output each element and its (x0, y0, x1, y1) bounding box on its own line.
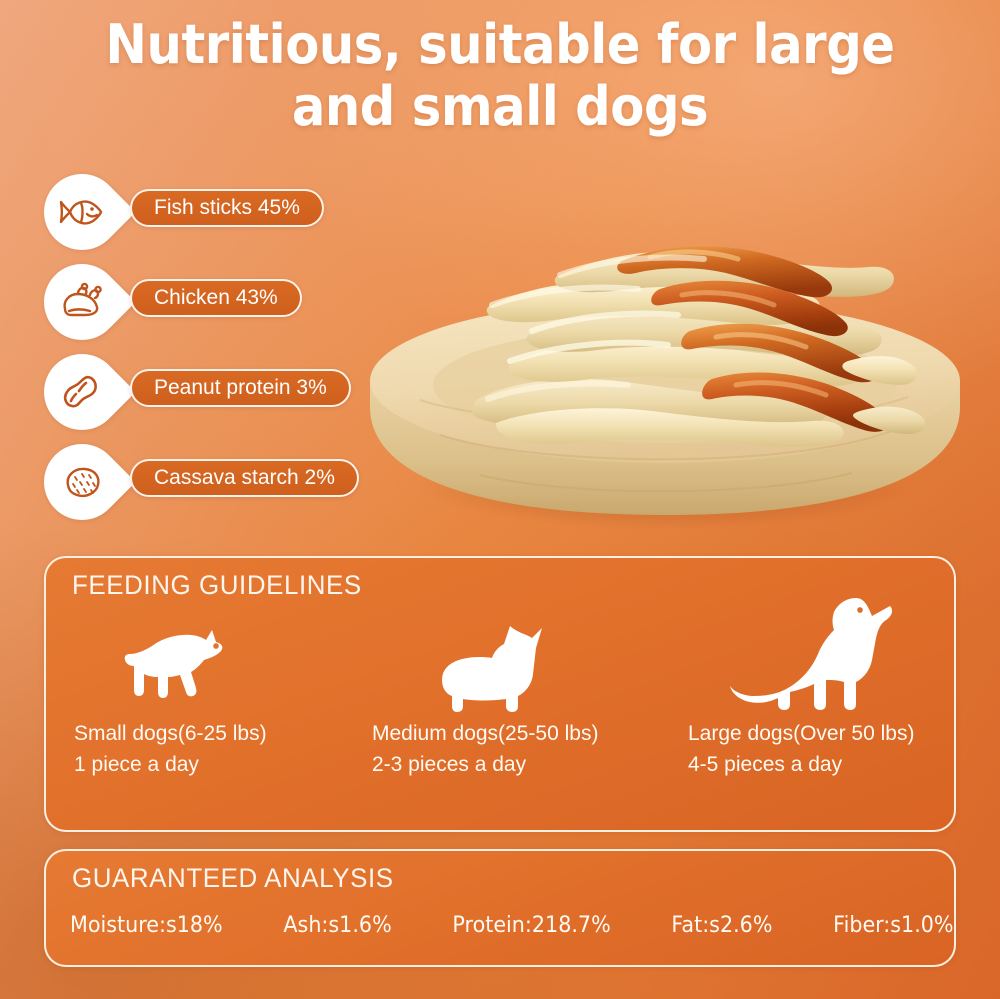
ingredient-pill-fish[interactable]: Fish sticks 45% (130, 189, 324, 227)
fish-icon-badge (28, 158, 135, 265)
medium-dog-icon (436, 618, 566, 718)
ingredient-pill-peanut[interactable]: Peanut protein 3% (130, 369, 351, 407)
ingredient-label: Fish sticks 45% (154, 196, 300, 220)
cassava-root-icon (58, 461, 106, 503)
feeding-amount-line: 1 piece a day (74, 749, 360, 780)
feeding-guidelines-title: FEEDING GUIDELINES (72, 570, 362, 601)
analysis-item-protein: Protein:218.7% (452, 913, 610, 938)
feeding-text-medium: Medium dogs(25-50 lbs) 2-3 pieces a day (358, 718, 678, 780)
chicken-icon-badge (28, 248, 135, 355)
page-title-line-1: Nutritious, suitable for large (105, 13, 894, 76)
feeding-column-large: Large dogs(Over 50 lbs) 4-5 pieces a day (676, 610, 958, 828)
feeding-size-line: Medium dogs(25-50 lbs) (372, 718, 678, 749)
feeding-amount-line: 2-3 pieces a day (372, 749, 678, 780)
guaranteed-analysis-values: Moisture:s18% Ash:s1.6% Protein:218.7% F… (70, 913, 954, 938)
feeding-column-small: Small dogs(6-25 lbs) 1 piece a day (60, 610, 360, 828)
analysis-item-moisture: Moisture:s18% (70, 913, 223, 938)
guaranteed-analysis-panel: GUARANTEED ANALYSIS Moisture:s18% Ash:s1… (44, 849, 956, 967)
small-dog-icon (120, 618, 232, 718)
feeding-column-medium: Medium dogs(25-50 lbs) 2-3 pieces a day (358, 610, 678, 828)
product-photo (360, 185, 970, 535)
chicken-icon (57, 281, 107, 323)
guaranteed-analysis-title: GUARANTEED ANALYSIS (72, 863, 394, 894)
product-infographic: Nutritious, suitable for large and small… (0, 0, 1000, 999)
ingredient-label: Chicken 43% (154, 286, 278, 310)
small-dog-art (60, 610, 360, 718)
ingredient-pill-chicken[interactable]: Chicken 43% (130, 279, 302, 317)
ingredient-label: Peanut protein 3% (154, 376, 327, 400)
analysis-item-fat: Fat:s2.6% (671, 913, 772, 938)
peanut-icon (59, 370, 105, 414)
feeding-size-line: Small dogs(6-25 lbs) (74, 718, 360, 749)
feeding-size-line: Large dogs(Over 50 lbs) (688, 718, 958, 749)
cassava-root-icon-badge (28, 428, 135, 535)
page-title-line-2: and small dogs (40, 76, 960, 138)
large-dog-icon (728, 592, 896, 718)
medium-dog-art (358, 610, 678, 718)
ingredient-label: Cassava starch 2% (154, 466, 335, 490)
analysis-item-fiber: Fiber:s1.0% (833, 913, 953, 938)
ingredient-pill-cassava[interactable]: Cassava starch 2% (130, 459, 359, 497)
product-photo-illustration (360, 185, 970, 535)
fish-icon (57, 192, 107, 232)
analysis-item-ash: Ash:s1.6% (283, 913, 391, 938)
feeding-guidelines-panel: FEEDING GUIDELINES Small dogs(6-25 lbs) … (44, 556, 956, 832)
large-dog-art (676, 610, 958, 718)
feeding-text-small: Small dogs(6-25 lbs) 1 piece a day (60, 718, 360, 780)
feeding-text-large: Large dogs(Over 50 lbs) 4-5 pieces a day (676, 718, 958, 780)
feeding-columns: Small dogs(6-25 lbs) 1 piece a day Mediu… (46, 610, 954, 828)
page-title: Nutritious, suitable for large and small… (40, 14, 960, 138)
feeding-amount-line: 4-5 pieces a day (688, 749, 958, 780)
peanut-icon-badge (28, 338, 135, 445)
